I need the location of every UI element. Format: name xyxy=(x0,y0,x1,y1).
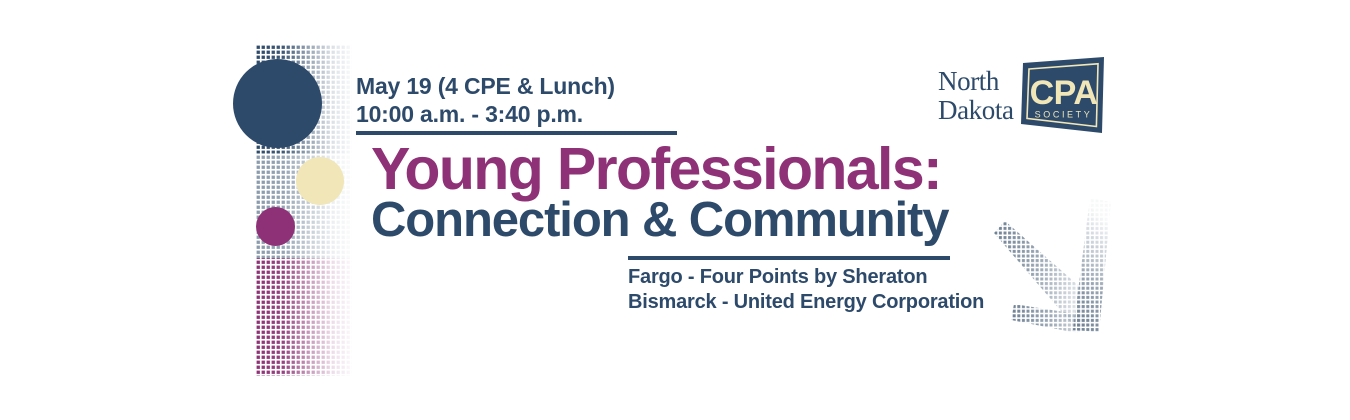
magenta-circle xyxy=(256,207,295,246)
event-venues: Fargo - Four Points by Sheraton Bismarck… xyxy=(628,265,984,315)
venue-bismarck: Bismarck - United Energy Corporation xyxy=(628,290,984,315)
event-date-time: May 19 (4 CPE & Lunch) 10:00 a.m. - 3:40… xyxy=(356,72,615,128)
cream-circle xyxy=(296,157,344,205)
nd-cpa-society-logo: North Dakota CPA SOCIETY xyxy=(938,57,1106,139)
navy-circle xyxy=(233,59,322,148)
badge-society-text: SOCIETY xyxy=(1035,110,1093,120)
event-title-primary: Young Professionals: xyxy=(371,140,941,199)
badge-cpa-text: CPA xyxy=(1030,74,1098,112)
logo-wordmark-line-2: Dakota xyxy=(938,96,1018,125)
event-banner: May 19 (4 CPE & Lunch) 10:00 a.m. - 3:40… xyxy=(0,0,1350,420)
event-time: 10:00 a.m. - 3:40 p.m. xyxy=(356,100,615,128)
event-title-secondary: Connection & Community xyxy=(371,196,948,245)
logo-wordmark: North Dakota xyxy=(938,67,1018,124)
event-date: May 19 (4 CPE & Lunch) xyxy=(356,72,615,100)
venue-fargo: Fargo - Four Points by Sheraton xyxy=(628,265,984,290)
fan-bar-lower xyxy=(980,185,1145,335)
divider-top xyxy=(356,131,677,135)
logo-wordmark-line-1: North xyxy=(938,67,1018,96)
halftone-fan-bars xyxy=(980,185,1145,335)
cpa-society-badge: CPA SOCIETY xyxy=(1020,57,1106,139)
divider-bottom xyxy=(628,256,950,260)
